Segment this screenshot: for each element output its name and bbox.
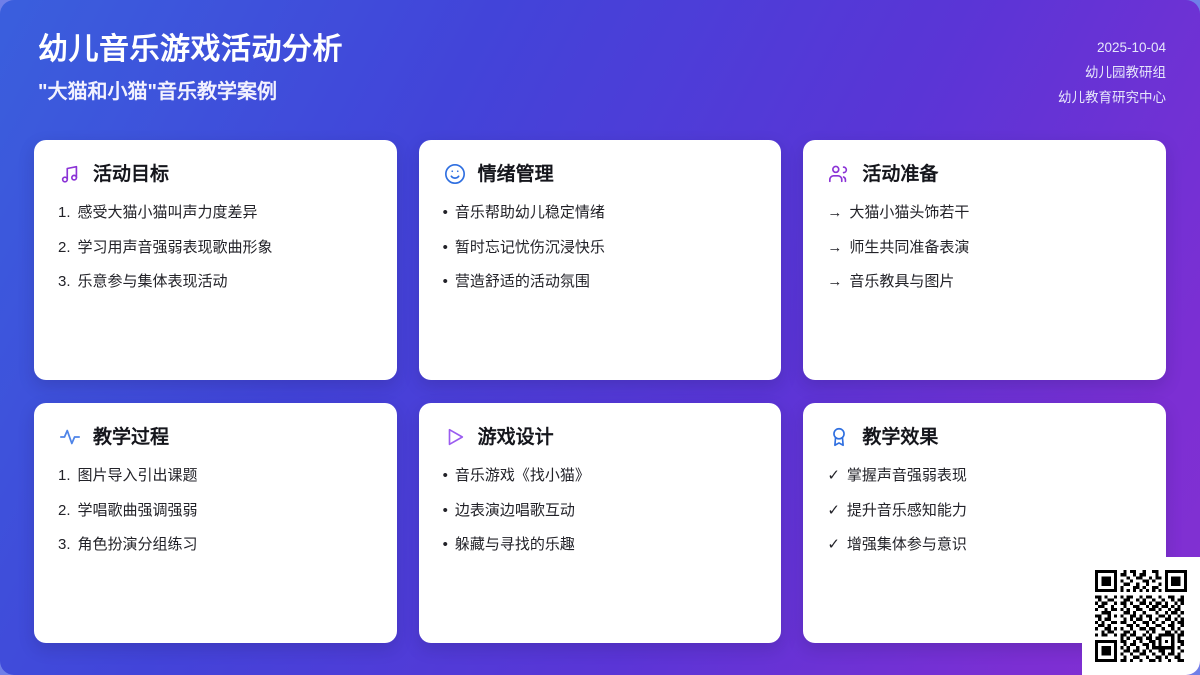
list-marker: → bbox=[827, 271, 842, 294]
list-marker: • bbox=[443, 237, 448, 260]
smiley-icon bbox=[443, 162, 467, 186]
list-marker: • bbox=[443, 465, 448, 488]
list-marker: → bbox=[827, 237, 842, 260]
list-item: 2.学习用声音强弱表现歌曲形象 bbox=[58, 237, 373, 260]
title-block: 幼儿音乐游戏活动分析 "大猫和小猫"音乐教学案例 bbox=[38, 26, 343, 105]
card-activity-goals[interactable]: 活动目标 1.感受大猫小猫叫声力度差异 2.学习用声音强弱表现歌曲形象 3.乐意… bbox=[34, 140, 397, 380]
card-title: 情绪管理 bbox=[478, 165, 554, 184]
list-item: 1.图片导入引出课题 bbox=[58, 465, 373, 488]
card-header: 教学过程 bbox=[58, 425, 373, 449]
list-item: ✓增强集体参与意识 bbox=[827, 534, 1142, 557]
list-item: →音乐教具与图片 bbox=[827, 271, 1142, 294]
list-item-text: 学唱歌曲强调强弱 bbox=[78, 500, 373, 523]
card-title: 活动目标 bbox=[93, 165, 169, 184]
page-title: 幼儿音乐游戏活动分析 bbox=[38, 32, 343, 68]
list-marker: ✓ bbox=[827, 534, 840, 557]
slide-header: 幼儿音乐游戏活动分析 "大猫和小猫"音乐教学案例 2025-10-04 幼儿园教… bbox=[0, 0, 1200, 128]
card-header: 教学效果 bbox=[827, 425, 1142, 449]
list-marker: • bbox=[443, 534, 448, 557]
slide-root: 幼儿音乐游戏活动分析 "大猫和小猫"音乐教学案例 2025-10-04 幼儿园教… bbox=[0, 0, 1200, 675]
list-item: ✓掌握声音强弱表现 bbox=[827, 465, 1142, 488]
list-item-text: 乐意参与集体表现活动 bbox=[78, 271, 373, 294]
list-marker: 1. bbox=[58, 202, 71, 225]
card-title: 游戏设计 bbox=[478, 428, 554, 447]
list-item: •暂时忘记忧伤沉浸快乐 bbox=[443, 237, 758, 260]
card-list: •音乐游戏《找小猫》 •边表演边唱歌互动 •躲藏与寻找的乐趣 bbox=[443, 465, 758, 557]
meta-org: 幼儿园教研组 bbox=[1085, 61, 1166, 86]
card-title: 活动准备 bbox=[862, 165, 938, 184]
card-list: ✓掌握声音强弱表现 ✓提升音乐感知能力 ✓增强集体参与意识 bbox=[827, 465, 1142, 557]
list-item: •营造舒适的活动氛围 bbox=[443, 271, 758, 294]
list-item: •边表演边唱歌互动 bbox=[443, 500, 758, 523]
list-marker: • bbox=[443, 271, 448, 294]
card-header: 活动目标 bbox=[58, 162, 373, 186]
list-item-text: 暂时忘记忧伤沉浸快乐 bbox=[455, 237, 757, 260]
list-item-text: 学习用声音强弱表现歌曲形象 bbox=[78, 237, 373, 260]
play-triangle-icon bbox=[443, 425, 467, 449]
list-item: •躲藏与寻找的乐趣 bbox=[443, 534, 758, 557]
list-marker: 3. bbox=[58, 271, 71, 294]
list-marker: ✓ bbox=[827, 500, 840, 523]
card-header: 游戏设计 bbox=[443, 425, 758, 449]
list-item: •音乐帮助幼儿稳定情绪 bbox=[443, 202, 758, 225]
list-item-text: 躲藏与寻找的乐趣 bbox=[455, 534, 757, 557]
card-list: •音乐帮助幼儿稳定情绪 •暂时忘记忧伤沉浸快乐 •营造舒适的活动氛围 bbox=[443, 202, 758, 294]
header-meta: 2025-10-04 幼儿园教研组 幼儿教育研究中心 bbox=[1058, 36, 1166, 111]
card-list: 1.感受大猫小猫叫声力度差异 2.学习用声音强弱表现歌曲形象 3.乐意参与集体表… bbox=[58, 202, 373, 294]
list-item: ✓提升音乐感知能力 bbox=[827, 500, 1142, 523]
list-marker: 2. bbox=[58, 237, 71, 260]
list-item-text: 图片导入引出课题 bbox=[78, 465, 373, 488]
list-item: •音乐游戏《找小猫》 bbox=[443, 465, 758, 488]
card-header: 活动准备 bbox=[827, 162, 1142, 186]
list-item-text: 感受大猫小猫叫声力度差异 bbox=[78, 202, 373, 225]
list-item: 1.感受大猫小猫叫声力度差异 bbox=[58, 202, 373, 225]
card-teaching-process[interactable]: 教学过程 1.图片导入引出课题 2.学唱歌曲强调强弱 3.角色扮演分组练习 bbox=[34, 403, 397, 643]
list-item-text: 提升音乐感知能力 bbox=[847, 500, 1142, 523]
list-item: 3.乐意参与集体表现活动 bbox=[58, 271, 373, 294]
music-note-icon bbox=[58, 162, 82, 186]
page-subtitle: "大猫和小猫"音乐教学案例 bbox=[38, 80, 343, 105]
list-item-text: 师生共同准备表演 bbox=[849, 237, 1142, 260]
list-item-text: 大猫小猫头饰若干 bbox=[849, 202, 1142, 225]
card-game-design[interactable]: 游戏设计 •音乐游戏《找小猫》 •边表演边唱歌互动 •躲藏与寻找的乐趣 bbox=[419, 403, 782, 643]
users-icon bbox=[827, 162, 851, 186]
list-item-text: 营造舒适的活动氛围 bbox=[455, 271, 757, 294]
list-marker: 3. bbox=[58, 534, 71, 557]
list-marker: • bbox=[443, 202, 448, 225]
list-item: 3.角色扮演分组练习 bbox=[58, 534, 373, 557]
list-marker: → bbox=[827, 202, 842, 225]
list-marker: ✓ bbox=[827, 465, 840, 488]
list-item-text: 音乐游戏《找小猫》 bbox=[455, 465, 757, 488]
list-marker: 1. bbox=[58, 465, 71, 488]
list-item-text: 增强集体参与意识 bbox=[847, 534, 1142, 557]
card-title: 教学过程 bbox=[93, 428, 169, 447]
list-item-text: 音乐帮助幼儿稳定情绪 bbox=[455, 202, 757, 225]
list-item-text: 角色扮演分组练习 bbox=[78, 534, 373, 557]
list-marker: 2. bbox=[58, 500, 71, 523]
meta-center: 幼儿教育研究中心 bbox=[1058, 86, 1166, 111]
qr-code bbox=[1095, 570, 1187, 662]
meta-date: 2025-10-04 bbox=[1097, 36, 1166, 61]
list-marker: • bbox=[443, 500, 448, 523]
qr-code-container[interactable] bbox=[1082, 557, 1200, 675]
card-emotion-management[interactable]: 情绪管理 •音乐帮助幼儿稳定情绪 •暂时忘记忧伤沉浸快乐 •营造舒适的活动氛围 bbox=[419, 140, 782, 380]
list-item-text: 边表演边唱歌互动 bbox=[455, 500, 757, 523]
list-item: →大猫小猫头饰若干 bbox=[827, 202, 1142, 225]
card-header: 情绪管理 bbox=[443, 162, 758, 186]
award-medal-icon bbox=[827, 425, 851, 449]
list-item-text: 音乐教具与图片 bbox=[849, 271, 1142, 294]
list-item: →师生共同准备表演 bbox=[827, 237, 1142, 260]
list-item-text: 掌握声音强弱表现 bbox=[847, 465, 1142, 488]
card-activity-preparation[interactable]: 活动准备 →大猫小猫头饰若干 →师生共同准备表演 →音乐教具与图片 bbox=[803, 140, 1166, 380]
card-list: 1.图片导入引出课题 2.学唱歌曲强调强弱 3.角色扮演分组练习 bbox=[58, 465, 373, 557]
card-list: →大猫小猫头饰若干 →师生共同准备表演 →音乐教具与图片 bbox=[827, 202, 1142, 294]
card-title: 教学效果 bbox=[862, 428, 938, 447]
list-item: 2.学唱歌曲强调强弱 bbox=[58, 500, 373, 523]
activity-pulse-icon bbox=[58, 425, 82, 449]
card-grid: 活动目标 1.感受大猫小猫叫声力度差异 2.学习用声音强弱表现歌曲形象 3.乐意… bbox=[34, 140, 1166, 643]
